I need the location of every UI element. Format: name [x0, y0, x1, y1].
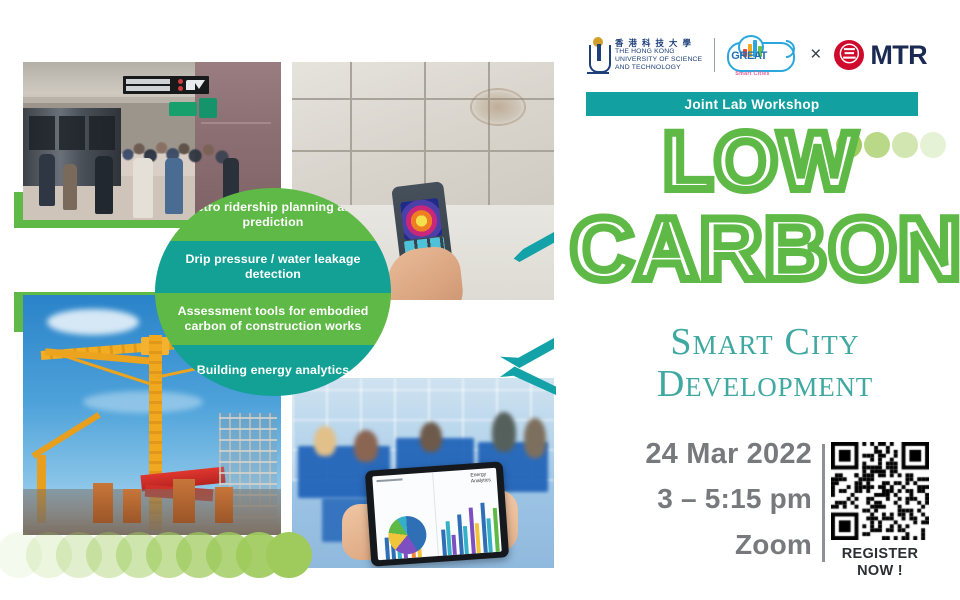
hkust-emblem-icon	[586, 36, 610, 74]
arrow-down-icon	[193, 80, 205, 89]
decorative-dot-row	[0, 532, 300, 578]
thermal-heatmap-screen	[400, 198, 442, 240]
title-line-low: LOW	[560, 122, 960, 202]
hkust-english-line1: THE HONG KONG	[615, 48, 702, 56]
collaboration-cross-icon: ×	[810, 44, 821, 66]
hkust-wordmark: 香 港 科 技 大 學 THE HONG KONG UNIVERSITY OF …	[615, 39, 702, 71]
great-tagline: Smart Cities	[735, 71, 770, 77]
wayfinding-sign	[199, 98, 217, 118]
qr-code[interactable]	[831, 442, 929, 540]
topic-label: Drip pressure / water leakage detection	[167, 252, 379, 281]
info-panel: 香 港 科 技 大 學 THE HONG KONG UNIVERSITY OF …	[570, 0, 960, 600]
platform-destination-sign	[123, 76, 209, 94]
title-low-text: LOW	[663, 122, 857, 202]
ceiling-grid-line	[488, 62, 490, 210]
workshop-banner: Joint Lab Workshop	[586, 92, 918, 116]
commuter-figure	[39, 154, 55, 206]
sign-dot	[178, 86, 183, 91]
great-smart-cities-logo: GREAT Smart Cities	[727, 34, 797, 76]
commuter-figure	[133, 158, 153, 218]
bar	[493, 508, 500, 552]
office-worker	[420, 422, 442, 452]
registration-block[interactable]: REGISTER NOW !	[818, 442, 942, 579]
commuter-figure	[95, 156, 113, 214]
topic-band-energy-analytics: Building energy analytics	[155, 345, 391, 396]
construction-ground	[23, 489, 281, 535]
hkust-cup-shape	[589, 45, 611, 73]
subtitle-line2: Development	[570, 364, 960, 406]
chevron-accent-icon	[500, 338, 554, 368]
tablet-device: Energy Analytics	[365, 461, 509, 566]
event-details: 24 Mar 2022 3 – 5:15 pm Zoom	[590, 438, 812, 561]
train-window	[29, 116, 55, 150]
concrete-column	[123, 489, 141, 523]
topic-label: Building energy analytics	[197, 363, 350, 378]
qr-code-canvas[interactable]	[831, 442, 929, 540]
office-worker	[524, 418, 546, 458]
register-label-line2: NOW !	[818, 563, 942, 580]
tablet-screen: Energy Analytics	[372, 468, 502, 560]
hkust-english-line2: UNIVERSITY OF SCIENCE	[615, 56, 702, 64]
organizer-logos: 香 港 科 技 大 學 THE HONG KONG UNIVERSITY OF …	[586, 30, 946, 80]
great-wordmark: GREAT	[731, 50, 767, 62]
mtr-logo: ㊂ MTR	[834, 40, 927, 71]
train-window	[89, 116, 115, 150]
concrete-column	[173, 479, 195, 523]
sign-text-line	[126, 79, 170, 84]
sign-dot	[178, 79, 183, 84]
water-stain	[470, 88, 526, 126]
poster-subtitle: Smart City Development	[570, 322, 960, 406]
sign-text-line	[126, 86, 170, 91]
concrete-column	[215, 487, 233, 523]
subtitle-line1: Smart City	[570, 322, 960, 364]
office-worker	[314, 426, 336, 456]
concrete-column	[93, 483, 113, 523]
poster-canvas: Energy Analytics	[0, 0, 960, 600]
chart-label-line	[376, 478, 402, 482]
title-line-carbon: CARBON	[570, 206, 960, 292]
bar	[452, 535, 457, 555]
ceiling-grid-line	[292, 150, 554, 152]
poster-title: LOW CARBON	[570, 122, 960, 293]
topic-band-leakage: Drip pressure / water leakage detection	[155, 241, 391, 293]
event-platform: Zoom	[590, 529, 812, 561]
office-worker	[354, 430, 378, 462]
office-tablet-photo: Energy Analytics	[292, 378, 554, 568]
exit-sign	[169, 102, 197, 116]
topic-label: Metro ridership planning and prediction	[167, 200, 379, 229]
bar	[475, 523, 481, 553]
photo-collage: Energy Analytics	[0, 0, 570, 600]
mtr-wordmark: MTR	[870, 40, 927, 71]
event-date: 24 Mar 2022	[590, 438, 812, 471]
hkust-chinese-name: 香 港 科 技 大 學	[615, 39, 702, 48]
bar	[463, 526, 469, 554]
register-label: REGISTER NOW !	[818, 546, 942, 579]
mtr-glyph: ㊂	[834, 40, 864, 70]
office-worker	[492, 412, 516, 452]
hkust-base-shape	[587, 72, 609, 74]
hkust-english-line3: AND TECHNOLOGY	[615, 64, 702, 72]
title-carbon-text: CARBON	[570, 206, 960, 292]
topics-circle: Metro ridership planning and prediction …	[155, 188, 391, 396]
dashboard-title: Energy Analytics	[470, 472, 491, 485]
event-time: 3 – 5:15 pm	[590, 483, 812, 515]
mtr-emblem-icon: ㊂	[834, 40, 864, 70]
decorative-dot	[266, 532, 312, 578]
workshop-banner-label: Joint Lab Workshop	[685, 97, 820, 112]
topic-label: Assessment tools for embodied carbon of …	[167, 304, 379, 333]
cloud	[47, 309, 139, 335]
topic-band-metro: Metro ridership planning and prediction	[155, 188, 391, 241]
topic-band-embodied-carbon: Assessment tools for embodied carbon of …	[155, 293, 391, 345]
train-window	[59, 116, 85, 150]
register-label-line1: REGISTER	[818, 546, 942, 563]
dashboard-right-pane: Energy Analytics	[433, 468, 501, 556]
commuter-figure	[63, 164, 77, 210]
hkust-logo: 香 港 科 技 大 學 THE HONG KONG UNIVERSITY OF …	[586, 36, 702, 74]
logo-divider	[714, 38, 715, 72]
